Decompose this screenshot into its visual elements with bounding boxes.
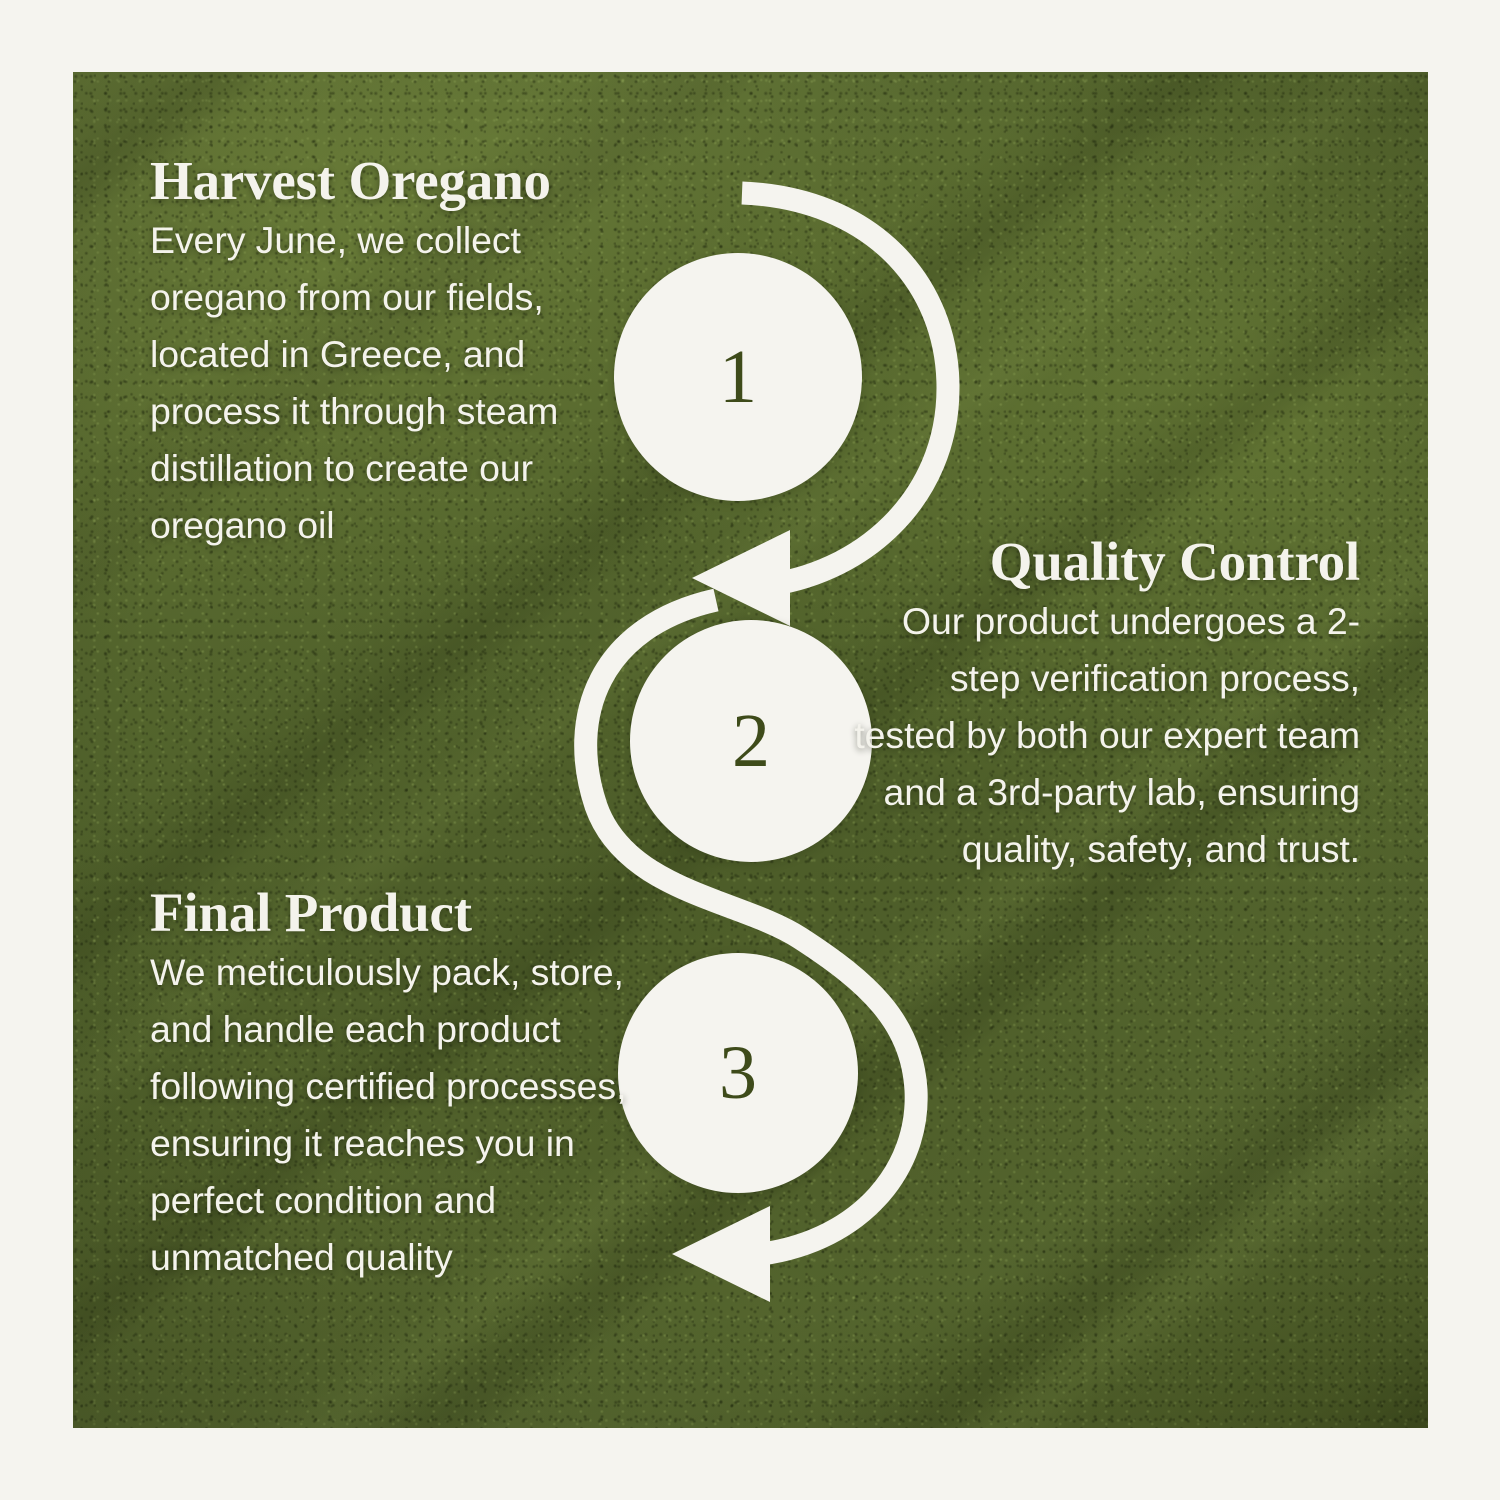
step-circle-1[interactable]: 1 xyxy=(614,253,862,501)
infographic-root: 1 2 3 Harvest Oregano Every June, we col… xyxy=(0,0,1500,1500)
step-circle-3[interactable]: 3 xyxy=(618,953,858,1193)
step-heading-quality-control: Quality Control xyxy=(840,533,1360,591)
step-block-final-product: Final Product We meticulously pack, stor… xyxy=(150,884,650,1286)
step-heading-harvest-oregano: Harvest Oregano xyxy=(150,152,640,210)
step-block-quality-control: Quality Control Our product undergoes a … xyxy=(840,533,1360,878)
step-number-3: 3 xyxy=(719,1035,757,1111)
step-number-2: 2 xyxy=(732,703,770,779)
step-circle-2[interactable]: 2 xyxy=(630,620,872,862)
step-number-1: 1 xyxy=(719,339,757,415)
step-block-harvest-oregano: Harvest Oregano Every June, we collect o… xyxy=(150,152,640,554)
step-heading-final-product: Final Product xyxy=(150,884,650,942)
step-body-final-product: We meticulously pack, store, and handle … xyxy=(150,944,650,1286)
step-body-quality-control: Our product undergoes a 2-step verificat… xyxy=(840,593,1360,878)
step-body-harvest-oregano: Every June, we collect oregano from our … xyxy=(150,212,640,554)
